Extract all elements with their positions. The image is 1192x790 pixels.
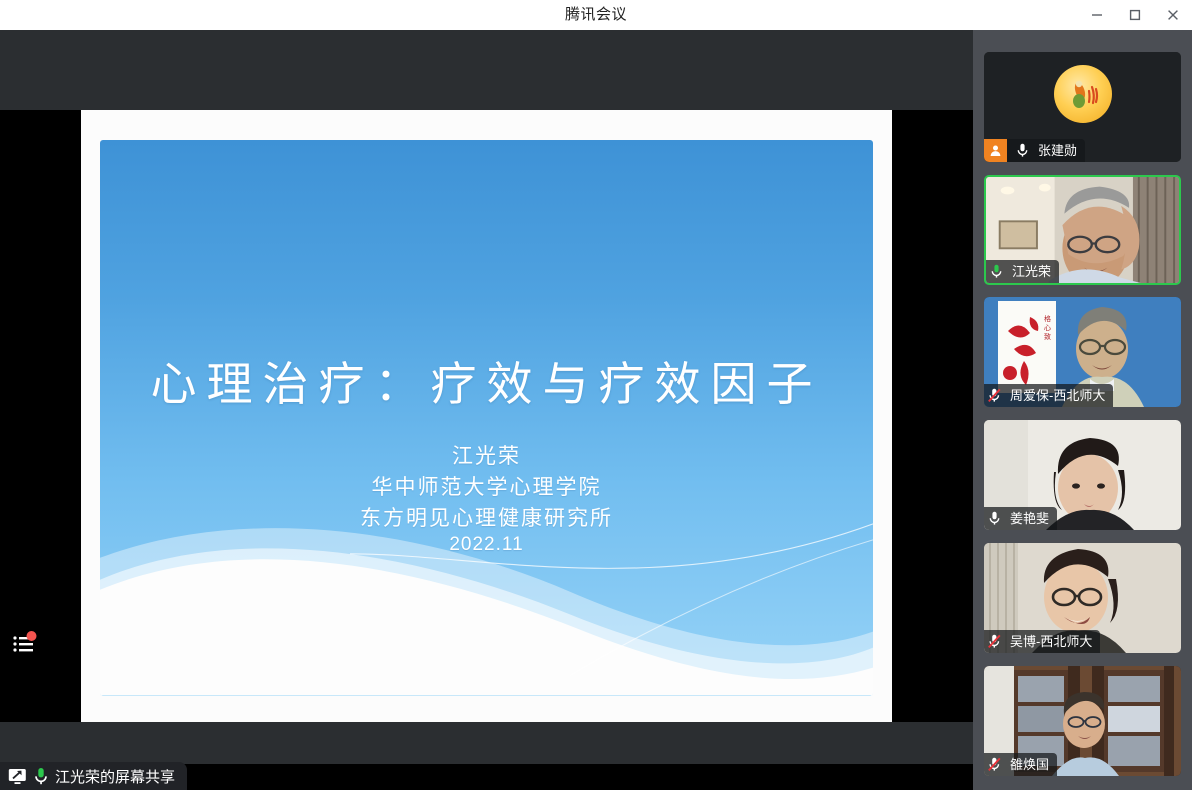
- slide-date: 2022.11: [100, 534, 873, 556]
- participant-name: 江光荣: [1012, 265, 1051, 278]
- screen-share-status-bar: 江光荣的屏幕共享: [0, 762, 187, 790]
- list-queue-button[interactable]: [8, 628, 40, 660]
- mic-on-icon: [1012, 139, 1033, 162]
- participant-badge: 江光荣: [986, 260, 1059, 283]
- list-queue-icon: [8, 628, 40, 660]
- svg-text:格: 格: [1044, 314, 1051, 323]
- participant-tile[interactable]: 雒焕国: [984, 666, 1181, 776]
- close-icon: [1166, 8, 1180, 22]
- host-person-icon: [984, 139, 1007, 162]
- participant-tile[interactable]: 江光荣: [984, 175, 1181, 285]
- minimize-icon: [1090, 8, 1104, 22]
- screen-share-status-label: 江光荣的屏幕共享: [55, 766, 175, 787]
- window-title: 腾讯会议: [0, 0, 1192, 30]
- avatar: [1054, 65, 1112, 123]
- mic-active-icon: [986, 260, 1007, 283]
- mic-muted-icon: [984, 753, 1005, 776]
- slide-title: 心理治疗：疗效与疗效因子: [100, 348, 873, 414]
- participant-badge: 周爱保-西北师大: [984, 384, 1113, 407]
- window-controls: [1078, 0, 1192, 30]
- participant-tile[interactable]: 吴博-西北师大: [984, 543, 1181, 653]
- participant-tile[interactable]: 格 心 致: [984, 297, 1181, 407]
- title-bar: 腾讯会议: [0, 0, 1192, 30]
- participant-badge: 张建勋: [984, 139, 1085, 162]
- participant-tile[interactable]: 张建勋: [984, 52, 1181, 162]
- slide-affiliation-2: 东方明见心理健康研究所: [100, 502, 873, 532]
- slide-presenter: 江光荣: [100, 440, 873, 470]
- participant-name: 吴博-西北师大: [1010, 635, 1092, 648]
- minimize-button[interactable]: [1078, 0, 1116, 30]
- participant-tile[interactable]: 姜艳斐: [984, 420, 1181, 530]
- svg-text:致: 致: [1044, 332, 1051, 341]
- screen-share-icon: [8, 768, 27, 785]
- participant-name: 雒焕国: [1010, 758, 1049, 771]
- participant-badge: 吴博-西北师大: [984, 630, 1100, 653]
- mic-muted-icon: [984, 630, 1005, 653]
- participant-name: 张建勋: [1038, 144, 1077, 157]
- participant-name: 周爱保-西北师大: [1010, 389, 1105, 402]
- notification-dot: [27, 631, 37, 641]
- participant-badge: 雒焕国: [984, 753, 1057, 776]
- participant-rail[interactable]: 张建勋: [973, 30, 1192, 790]
- presentation-slide: 心理治疗：疗效与疗效因子 江光荣 华中师范大学心理学院 东方明见心理健康研究所 …: [100, 140, 873, 696]
- stage-bottom-bar: [0, 722, 973, 764]
- mic-on-icon: [34, 767, 48, 786]
- maximize-button[interactable]: [1116, 0, 1154, 30]
- tencent-meeting-window: 腾讯会议: [0, 0, 1192, 790]
- participant-name: 姜艳斐: [1010, 512, 1049, 525]
- slide-page: 心理治疗：疗效与疗效因子 江光荣 华中师范大学心理学院 东方明见心理健康研究所 …: [81, 110, 892, 722]
- shared-screen-stage: 心理治疗：疗效与疗效因子 江光荣 华中师范大学心理学院 东方明见心理健康研究所 …: [0, 30, 973, 764]
- shared-content-area: 心理治疗：疗效与疗效因子 江光荣 华中师范大学心理学院 东方明见心理健康研究所 …: [0, 110, 973, 722]
- participant-badge: 姜艳斐: [984, 507, 1057, 530]
- avatar-illustration: [1054, 65, 1112, 123]
- mic-muted-icon: [984, 384, 1005, 407]
- svg-text:心: 心: [1044, 324, 1051, 332]
- mic-on-icon: [984, 507, 1005, 530]
- slide-affiliation-1: 华中师范大学心理学院: [100, 471, 873, 501]
- close-button[interactable]: [1154, 0, 1192, 30]
- maximize-icon: [1128, 8, 1142, 22]
